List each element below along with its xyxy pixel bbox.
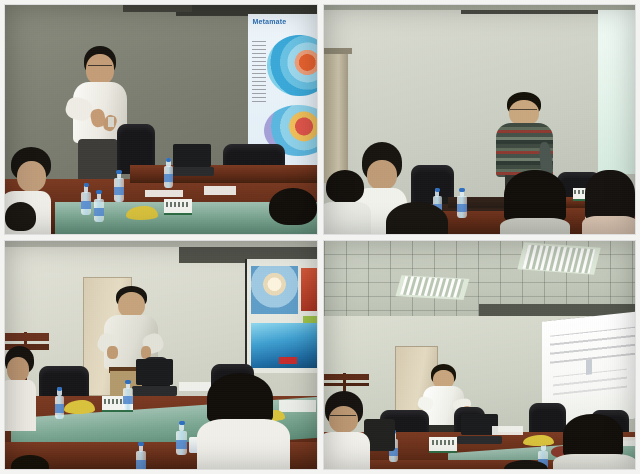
slide-caption-tag xyxy=(279,357,297,364)
slide-photos xyxy=(247,259,317,373)
ceiling-light-panel xyxy=(517,242,600,275)
audience-glasses xyxy=(330,415,356,420)
ceiling-shadow xyxy=(324,5,636,10)
slide-title: Metamate xyxy=(252,19,286,26)
banana xyxy=(523,435,554,446)
laptop-lid xyxy=(136,359,173,385)
water-bottle xyxy=(457,188,466,218)
audience-hair xyxy=(5,202,36,231)
name-card xyxy=(164,199,192,215)
laptop-base xyxy=(169,167,214,176)
audience-body xyxy=(5,380,36,431)
speaker-left-hand xyxy=(107,346,118,359)
audience-member xyxy=(386,202,448,234)
audience-head xyxy=(7,357,29,382)
audience-body xyxy=(324,202,372,234)
audience-head xyxy=(367,160,397,190)
photo-panel-top-right[interactable] xyxy=(323,4,637,235)
water-bottle xyxy=(94,190,104,222)
ceiling-soffit xyxy=(123,5,192,12)
water-bottle xyxy=(176,421,187,455)
water-bottle xyxy=(164,158,173,188)
water-bottle xyxy=(114,170,124,202)
audience-hair xyxy=(386,202,448,234)
table-far-edge xyxy=(130,165,317,183)
paper-sheet xyxy=(145,190,182,197)
audience-member xyxy=(5,346,36,428)
laptop-lid xyxy=(173,144,210,166)
audience-body xyxy=(197,419,290,469)
audience-member xyxy=(204,373,279,469)
name-card-text xyxy=(166,202,190,207)
audience-body xyxy=(582,216,635,233)
photo-panel-bottom-right[interactable] xyxy=(323,240,637,471)
audience-member xyxy=(504,170,566,234)
audience-member xyxy=(5,202,36,234)
water-bottle xyxy=(123,380,132,410)
projection-screen xyxy=(598,10,635,175)
audience-member xyxy=(324,170,368,234)
paper-sheet xyxy=(279,400,316,411)
audience-member xyxy=(504,460,548,469)
audience-hair xyxy=(504,170,566,223)
slide-text-lines xyxy=(252,38,265,101)
photo-panel-bottom-left[interactable] xyxy=(4,240,318,471)
water-bottle xyxy=(81,183,91,215)
audience-member xyxy=(11,455,48,469)
slide-blank xyxy=(598,10,635,175)
speaker-glasses xyxy=(510,109,537,114)
door-frame xyxy=(324,51,349,184)
projection-screen: Metamate xyxy=(248,14,317,165)
audience-body xyxy=(553,454,635,469)
water-bottle xyxy=(55,387,64,419)
door-header xyxy=(324,48,352,54)
paper-sheet xyxy=(492,426,523,435)
paper-sheet xyxy=(204,186,235,195)
audience-body xyxy=(324,432,370,470)
banana xyxy=(126,206,157,220)
audience-hair xyxy=(585,170,635,221)
slide-diagram-a xyxy=(267,35,316,95)
slide-photo-static-hair xyxy=(251,266,298,314)
ceiling-strip xyxy=(5,241,317,248)
laptop xyxy=(173,144,210,176)
audience-member xyxy=(560,414,629,469)
speaker-glasses xyxy=(88,65,113,71)
audience-body xyxy=(500,218,570,234)
audience-hair xyxy=(504,460,548,469)
banana xyxy=(64,400,95,414)
speaker-badge xyxy=(108,117,114,127)
slide-metamaterials: Metamate xyxy=(248,14,317,165)
audience-hair xyxy=(11,455,48,469)
slide-red-tag xyxy=(301,268,316,311)
scene-top-left: Metamate xyxy=(5,5,317,234)
audience-member xyxy=(585,170,635,234)
laptop xyxy=(136,359,173,396)
projection-screen xyxy=(245,259,317,373)
slide-figure xyxy=(586,359,591,375)
water-bottle xyxy=(136,442,147,469)
audience-member xyxy=(267,188,317,234)
audience-hair xyxy=(207,373,273,423)
laptop-base xyxy=(457,436,502,444)
photo-collage: Metamate xyxy=(0,0,640,474)
audience-hair xyxy=(326,170,364,204)
name-card-text xyxy=(432,440,456,445)
scene-bottom-left xyxy=(5,241,317,470)
slide-bullet-text xyxy=(550,326,635,363)
audience-member xyxy=(324,391,368,469)
audience-hair xyxy=(269,188,316,226)
photo-panel-top-left[interactable]: Metamate xyxy=(4,4,318,235)
scene-bottom-right xyxy=(324,241,636,470)
audience-hair xyxy=(563,414,623,456)
ceiling-light-panel xyxy=(396,275,469,299)
name-card xyxy=(429,437,457,453)
audience-head xyxy=(17,161,46,192)
scene-top-right xyxy=(324,5,636,234)
laptop-base xyxy=(132,386,177,396)
